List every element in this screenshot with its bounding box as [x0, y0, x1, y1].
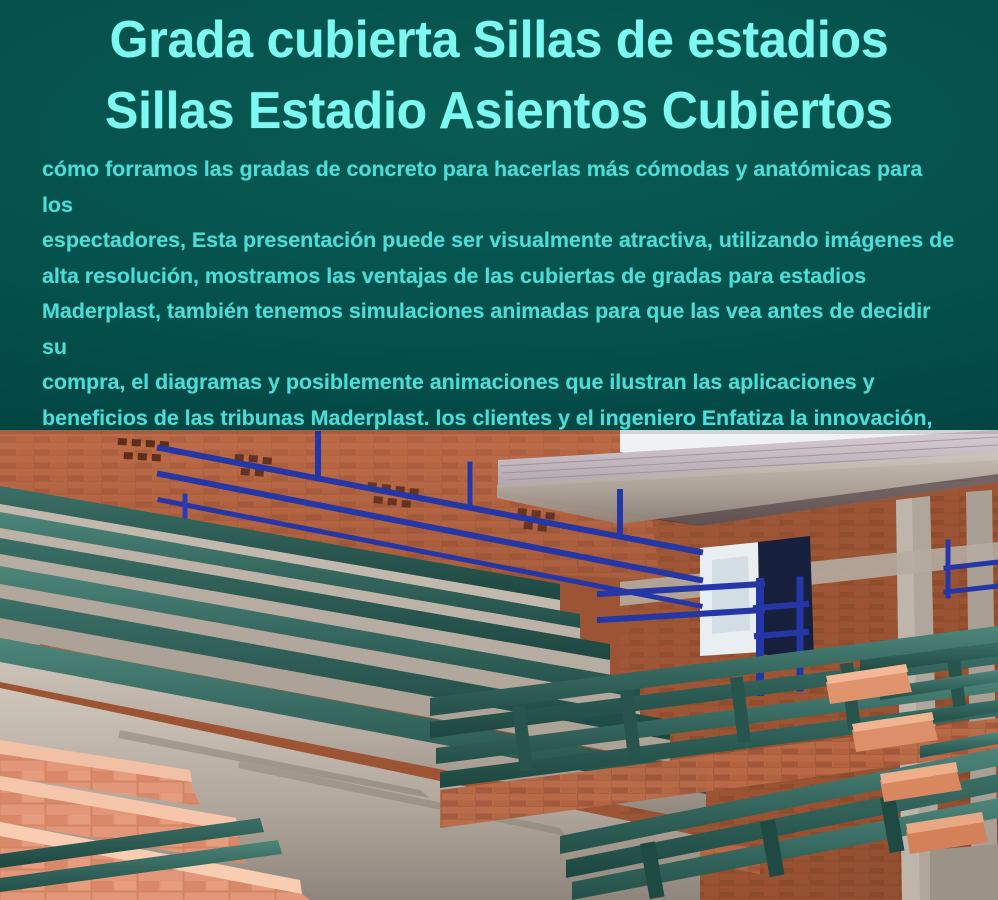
body-line: alta resolución, mostramos las ventajas … — [42, 259, 958, 295]
body-line: Maderplast, también tenemos simulaciones… — [42, 294, 958, 365]
poster: Grada cubierta Sillas de estadios Sillas… — [0, 0, 998, 900]
body-line: compra, el diagramas y posiblemente anim… — [42, 365, 958, 401]
doorway-dark — [758, 536, 814, 660]
text-panel: Grada cubierta Sillas de estadios Sillas… — [0, 0, 998, 430]
headline-line-2: Sillas Estadio Asientos Cubiertos — [41, 76, 957, 146]
headline-line-1: Grada cubierta Sillas de estadios — [41, 4, 957, 76]
headline-block: Grada cubierta Sillas de estadios Sillas… — [22, 0, 976, 146]
body-line: cómo forramos las gradas de concreto par… — [42, 152, 958, 223]
body-line: espectadores, Esta presentación puede se… — [42, 223, 958, 259]
stadium-bleachers-photo — [0, 430, 998, 900]
floor-right — [930, 844, 998, 900]
bleachers-illustration — [0, 430, 998, 900]
